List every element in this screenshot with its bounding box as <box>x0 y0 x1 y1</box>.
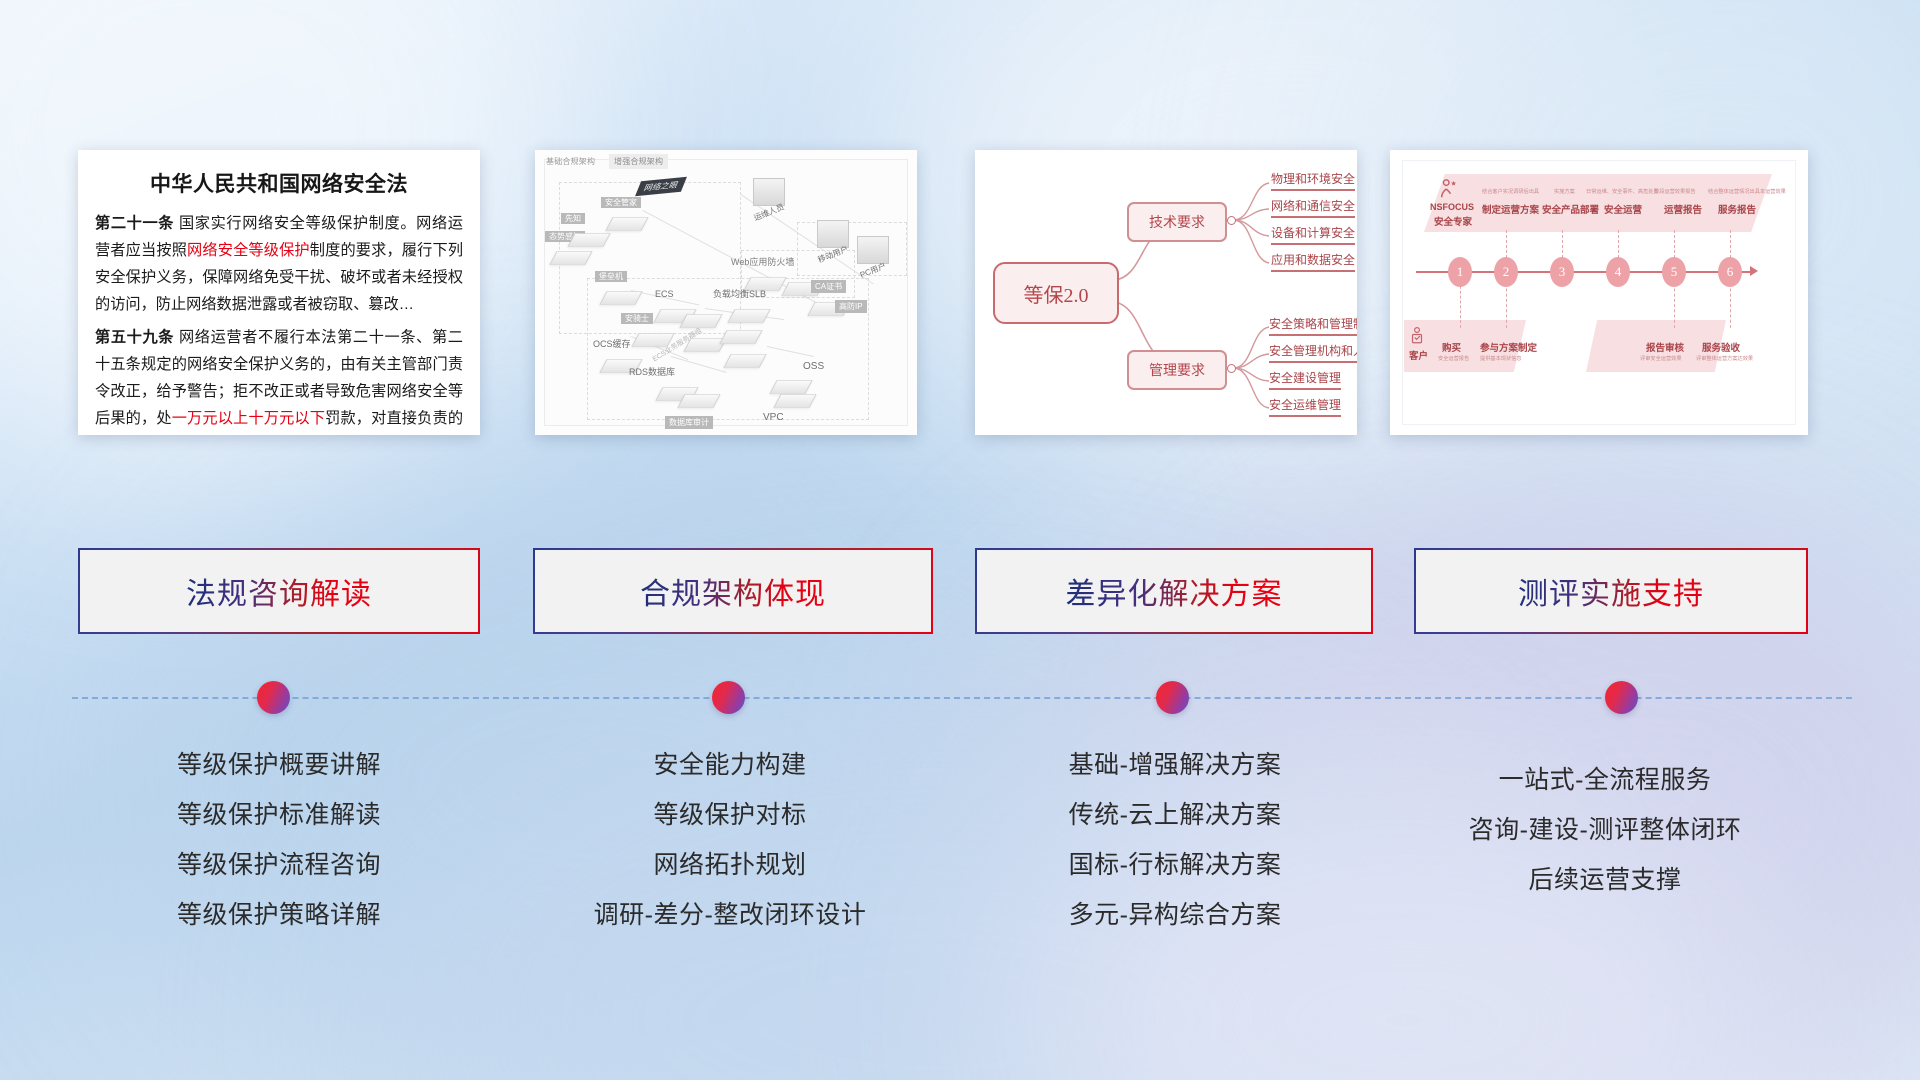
arch-node <box>727 350 763 372</box>
arch-node-shape <box>567 233 610 247</box>
step-label: 运营报告 <box>1664 202 1702 216</box>
list-item: 国标-行标解决方案 <box>960 840 1390 890</box>
arch-node: 高防IP <box>811 298 847 320</box>
arch-node <box>723 326 759 348</box>
feature-list-3: 基础-增强解决方案 传统-云上解决方案 国标-行标解决方案 多元-异构综合方案 <box>960 740 1390 940</box>
law-article-59: 第五十九条 网络运营者不履行本法第二十一条、第二十五条规定的网络安全保护义务的，… <box>95 324 463 435</box>
step-sub: 安全运营报告 <box>1438 355 1469 362</box>
arch-node: CA证书 <box>785 278 821 300</box>
mindmap-leaf: 安全建设管理 <box>1269 369 1341 390</box>
arch-node-shape <box>679 314 722 328</box>
article-59-label: 第五十九条 <box>95 329 174 346</box>
header-box-1[interactable]: 法规咨询解读 <box>78 548 480 634</box>
mindmap-branch-management: 管理要求 <box>1127 350 1227 390</box>
expert-label-line2: 安全专家 <box>1434 214 1472 228</box>
header-box-inner: 合规架构体现 <box>535 550 931 632</box>
header-label-1: 法规咨询解读 <box>186 569 372 613</box>
arch-node: 移动用户 <box>817 220 849 260</box>
mindmap-collapse-dot[interactable] <box>1227 364 1236 373</box>
arch-tab-basic: 基础合规架构 <box>541 154 600 169</box>
arch-node: 网络之眼 <box>639 176 683 194</box>
arch-node-label: OCS缓存 <box>593 339 631 349</box>
feature-list-1: 等级保护概要讲解 等级保护标准解读 等级保护流程咨询 等级保护策略详解 <box>78 740 480 940</box>
arch-node-label: 数据库审计 <box>665 416 713 429</box>
arch-node-label: VPC <box>763 412 813 423</box>
list-item: 等级保护标准解读 <box>78 790 480 840</box>
customer-person-icon <box>1408 326 1426 346</box>
card-law-text: 中华人民共和国网络安全法 第二十一条 国家实行网络安全等级保护制度。网络运营者应… <box>78 150 480 435</box>
header-box-inner: 测评实施支持 <box>1416 550 1806 632</box>
list-item: 多元-异构综合方案 <box>960 890 1390 940</box>
step-label: 购买 <box>1442 340 1461 354</box>
card-row: 中华人民共和国网络安全法 第二十一条 国家实行网络安全等级保护制度。网络运营者应… <box>0 150 1920 450</box>
header-box-3[interactable]: 差异化解决方案 <box>975 548 1373 634</box>
list-item: 咨询-建设-测评整体闭环 <box>1390 805 1820 855</box>
law-title: 中华人民共和国网络安全法 <box>95 168 463 198</box>
customer-label: 客户 <box>1409 348 1428 362</box>
arch-node-shape <box>723 354 766 368</box>
mindmap-collapse-dot[interactable] <box>1227 216 1236 225</box>
mindmap-canvas: 等保2.0 技术要求 物理和环境安全 网络和通信安全 设备和计算安全 应用和数据… <box>975 150 1357 435</box>
step-sub: 结合整体运营情况出具本运营效果 <box>1708 188 1786 195</box>
process-canvas: NSFOCUS 安全专家 客户 结合客户实况调研后出具 制定运营方案 实施方案 … <box>1390 150 1808 435</box>
mindmap-leaf: 网络和通信安全 <box>1271 197 1355 218</box>
header-label-3: 差异化解决方案 <box>1066 569 1283 613</box>
arch-tab-enhanced: 增强合规架构 <box>609 154 668 169</box>
arch-node: 数据库审计 <box>665 390 717 430</box>
list-item: 等级保护流程咨询 <box>78 840 480 890</box>
step-node-5[interactable]: 5 <box>1662 257 1686 287</box>
timeline-dot-4[interactable] <box>1605 681 1638 714</box>
list-item: 基础-增强解决方案 <box>960 740 1390 790</box>
arch-node-shape <box>719 330 762 344</box>
step-label: 安全运营 <box>1604 202 1642 216</box>
arch-node-label: Web应用防火墙 <box>731 257 794 267</box>
arch-node-shape <box>599 291 642 305</box>
arch-node-shape <box>605 217 648 231</box>
mindmap-branch-technical: 技术要求 <box>1127 202 1227 242</box>
step-label: 服务验收 <box>1702 340 1740 354</box>
timeline-dot-1[interactable] <box>257 681 290 714</box>
step-label: 服务报告 <box>1718 202 1756 216</box>
list-item: 网络拓扑规划 <box>500 840 960 890</box>
arch-node: VPC <box>763 390 813 423</box>
law-article-21: 第二十一条 国家实行网络安全等级保护制度。网络运营者应当按照网络安全等级保护制度… <box>95 210 463 318</box>
step-sub: 评审安全运营效果 <box>1640 355 1682 362</box>
list-item: 等级保护策略详解 <box>78 890 480 940</box>
list-item: 等级保护对标 <box>500 790 960 840</box>
timeline-dot-2[interactable] <box>712 681 745 714</box>
arch-node: 安全管家 <box>601 192 645 235</box>
list-item: 传统-云上解决方案 <box>960 790 1390 840</box>
step-label: 安全产品部署 <box>1542 202 1599 216</box>
arch-node-label: 网络之眼 <box>635 177 687 197</box>
timeline-dashed-line <box>72 697 1852 699</box>
step-sub: 实施方案 <box>1554 188 1575 195</box>
list-item: 后续运营支撑 <box>1390 855 1820 905</box>
arch-node-label: 负载均衡SLB <box>713 289 766 299</box>
list-item: 一站式-全流程服务 <box>1390 755 1820 805</box>
mindmap-leaf: 安全管理机构和人员 <box>1269 342 1357 363</box>
header-box-4[interactable]: 测评实施支持 <box>1414 548 1808 634</box>
arch-node-label: CA证书 <box>811 280 846 293</box>
header-box-inner: 差异化解决方案 <box>977 550 1371 632</box>
step-sub: 提供基本现状信息 <box>1480 355 1522 362</box>
arch-node-shape <box>549 251 592 265</box>
step-sub: 评审整体运营方案达效果 <box>1696 355 1753 362</box>
arch-node-label: 先知 <box>561 213 585 224</box>
step-label: 参与方案制定 <box>1480 340 1537 354</box>
step-node-1[interactable]: 1 <box>1448 257 1472 287</box>
list-item: 调研-差分-整改闭环设计 <box>500 890 960 940</box>
list-item: 等级保护概要讲解 <box>78 740 480 790</box>
step-label: 报告审核 <box>1646 340 1684 354</box>
step-node-4[interactable]: 4 <box>1606 257 1630 287</box>
mindmap-leaf: 物理和环境安全 <box>1271 170 1355 191</box>
feature-list-4: 一站式-全流程服务 咨询-建设-测评整体闭环 后续运营支撑 <box>1390 755 1820 905</box>
timeline-dot-3[interactable] <box>1156 681 1189 714</box>
mindmap-leaf: 应用和数据安全 <box>1271 251 1355 272</box>
mindmap-leaf: 设备和计算安全 <box>1271 224 1355 245</box>
mindmap-leaf: 安全策略和管理制度 <box>1269 315 1357 336</box>
step-node-6[interactable]: 6 <box>1718 257 1742 287</box>
step-sub: 日常运维、安全事件、高危处置 <box>1586 188 1659 195</box>
arch-node-shape <box>677 394 720 408</box>
article-21-highlight: 网络安全等级保护 <box>187 242 310 259</box>
card-process-timeline: NSFOCUS 安全专家 客户 结合客户实况调研后出具 制定运营方案 实施方案 … <box>1390 150 1808 435</box>
step-sub: 阶段运营效果报告 <box>1654 188 1696 195</box>
header-label-2: 合规架构体现 <box>640 569 826 613</box>
card-architecture-diagram: 基础合规架构 增强合规架构 态势感知 先知 <box>535 150 917 435</box>
arch-node: 负载均衡SLB <box>713 284 767 327</box>
arch-node-label: RDS数据库 <box>629 367 675 377</box>
header-label-4: 测评实施支持 <box>1518 569 1704 613</box>
law-body: 中华人民共和国网络安全法 第二十一条 国家实行网络安全等级保护制度。网络运营者应… <box>78 150 480 435</box>
arch-node-label: 安全管家 <box>601 197 641 208</box>
expert-label-line1: NSFOCUS <box>1430 202 1474 212</box>
card-mindmap: 等保2.0 技术要求 物理和环境安全 网络和通信安全 设备和计算安全 应用和数据… <box>975 150 1357 435</box>
header-box-inner: 法规咨询解读 <box>80 550 478 632</box>
list-item: 安全能力构建 <box>500 740 960 790</box>
arch-node-shape <box>773 394 816 408</box>
step-node-2[interactable]: 2 <box>1494 257 1518 287</box>
step-label: 制定运营方案 <box>1482 202 1539 216</box>
arch-node-shape <box>727 309 770 323</box>
arch-node-label: ECS <box>655 289 674 299</box>
expert-person-icon <box>1438 178 1460 200</box>
arch-node-label: 堡垒机 <box>595 271 627 282</box>
arch-node-label: 安骑士 <box>621 313 653 324</box>
arch-node <box>687 334 723 356</box>
header-box-2[interactable]: 合规架构体现 <box>533 548 933 634</box>
process-axis-arrow <box>1750 266 1758 276</box>
arch-node-label: OSS <box>803 361 824 372</box>
feature-list-2: 安全能力构建 等级保护对标 网络拓扑规划 调研-差分-整改闭环设计 <box>500 740 960 940</box>
arch-node-label: 高防IP <box>835 300 867 313</box>
article-59-highlight-1: 一万元以上十万元以下 <box>172 410 325 427</box>
arch-node: PC用户 <box>857 236 889 276</box>
architecture-canvas: 基础合规架构 增强合规架构 态势感知 先知 <box>535 150 917 435</box>
mindmap-leaf: 安全运维管理 <box>1269 396 1341 417</box>
arch-node <box>683 310 719 332</box>
mindmap-root-node: 等保2.0 <box>993 262 1119 324</box>
step-sub: 结合客户实况调研后出具 <box>1482 188 1539 195</box>
article-21-label: 第二十一条 <box>95 215 174 232</box>
arch-node: 运维人员 <box>753 178 785 218</box>
step-node-3[interactable]: 3 <box>1550 257 1574 287</box>
arch-node: 堡垒机 <box>595 266 639 309</box>
